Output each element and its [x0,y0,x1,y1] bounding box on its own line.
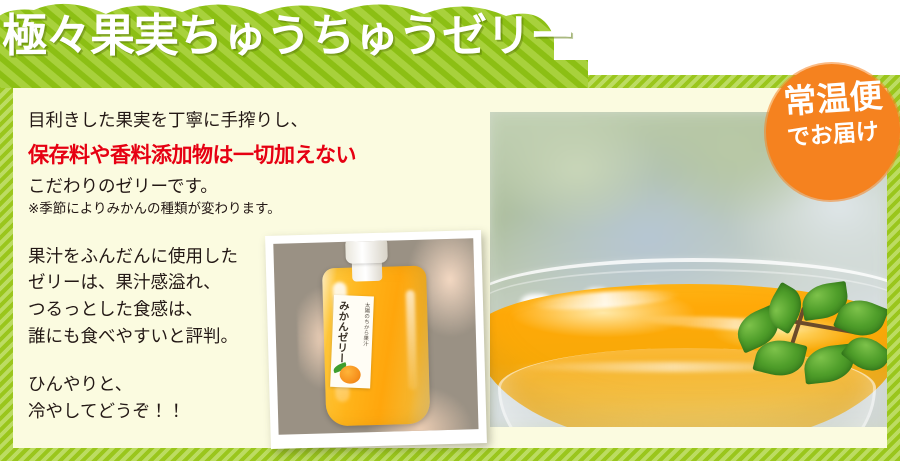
shipping-badge: 常温便 でお届け [766,64,900,200]
copy-paragraph-3: ひんやりと、 冷やしてどうぞ！！ [28,372,308,425]
copy-p2-line-1: 果汁をふんだんに使用した [28,244,308,271]
copy-line-1: 目利きした果実を丁寧に手搾りし、 [28,108,308,135]
pouch-label-sub-text: 太陽のちから果汁 [361,302,371,346]
copy-line-2: こだわりのゼリーです。 [28,174,308,201]
page-title: 極々果実ちゅうちゅうゼリー [2,12,582,59]
copy-highlight: 保存料や香料添加物は一切加えない [28,138,308,172]
copy-p3-line-2: 冷やしてどうぞ！！ [28,399,308,426]
pouch-highlight [406,290,418,390]
pouch-label: みかんゼリー 太陽のちから果汁 [330,295,374,389]
copy-p2-line-4: 誰にも食べやすいと評判。 [28,324,308,351]
pouch-label-main-text: みかんゼリー [335,300,349,363]
copy-paragraph-2: 果汁をふんだんに使用した ゼリーは、果汁感溢れ、 つるっとした食感は、 誰にも食… [28,244,308,350]
promo-banner: みかんゼリー 太陽のちから果汁 極々果実ちゅうちゅうゼリー 目利きし [0,0,900,461]
copy-note: ※季節によりみかんの種類が変わります。 [28,200,308,220]
copy-p2-line-2: ゼリーは、果汁感溢れ、 [28,270,308,297]
orange-fruit-icon [339,365,361,384]
pouch-cap [345,238,388,264]
mint-sprig [730,290,887,410]
badge-line-1: 常温便 [765,77,900,119]
copy-p2-line-3: つるっとした食感は、 [28,297,308,324]
description-copy: 目利きした果実を丁寧に手搾りし、 保存料や香料添加物は一切加えない こだわりのゼ… [28,108,308,425]
title-banner: 極々果実ちゅうちゅうゼリー [0,0,588,88]
copy-p3-line-1: ひんやりと、 [28,372,308,399]
